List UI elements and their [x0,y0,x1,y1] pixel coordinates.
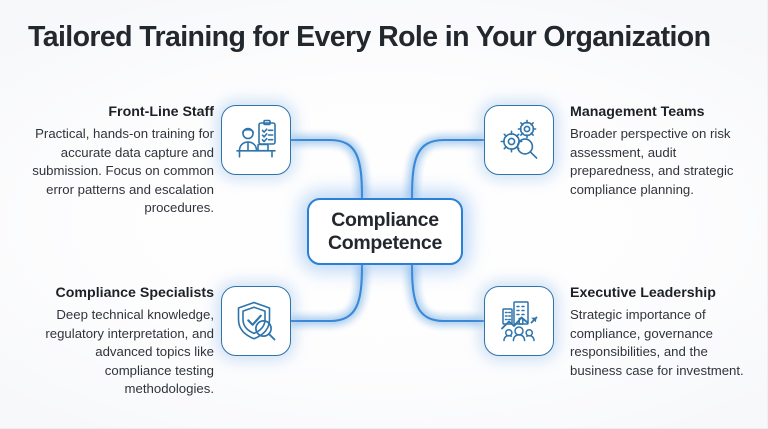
quadrant-title-compliance-specialists: Compliance Specialists [32,284,214,302]
page-title: Tailored Training for Every Role in Your… [28,20,740,54]
quadrant-body-management-teams: Broader perspective on risk assessment, … [570,125,752,199]
quadrant-compliance-specialists: Compliance Specialists Deep technical kn… [32,284,214,399]
person-at-desk-with-clipboard-icon [232,116,280,164]
quadrant-title-executive-leadership: Executive Leadership [570,284,752,302]
icon-box-executive-leadership[interactable] [484,286,554,356]
buildings-growth-arrow-people-icon [495,297,543,345]
center-node-compliance-competence[interactable]: Compliance Competence [307,198,463,265]
quadrant-front-line-staff: Front-Line Staff Practical, hands-on tra… [32,103,214,218]
connector-top-right [412,140,483,198]
quadrant-title-front-line-staff: Front-Line Staff [32,103,214,121]
quadrant-title-management-teams: Management Teams [570,103,752,121]
quadrant-body-front-line-staff: Practical, hands-on training for accurat… [32,125,214,217]
quadrant-executive-leadership: Executive Leadership Strategic importanc… [570,284,752,380]
connector-bottom-right [412,265,483,321]
center-node-line-1: Compliance [331,209,439,232]
infographic-canvas: Tailored Training for Every Role in Your… [0,0,768,429]
center-node-line-2: Competence [328,232,442,255]
quadrant-body-compliance-specialists: Deep technical knowledge, regulatory int… [32,306,214,398]
icon-box-compliance-specialists[interactable] [221,286,291,356]
connector-top-left [291,140,362,198]
quadrant-body-executive-leadership: Strategic importance of compliance, gove… [570,306,752,380]
shield-check-with-magnifier-icon [232,297,280,345]
icon-box-management-teams[interactable] [484,105,554,175]
icon-box-front-line-staff[interactable] [221,105,291,175]
quadrant-management-teams: Management Teams Broader perspective on … [570,103,752,199]
connector-bottom-left [291,265,362,321]
gears-with-magnifier-icon [495,116,543,164]
